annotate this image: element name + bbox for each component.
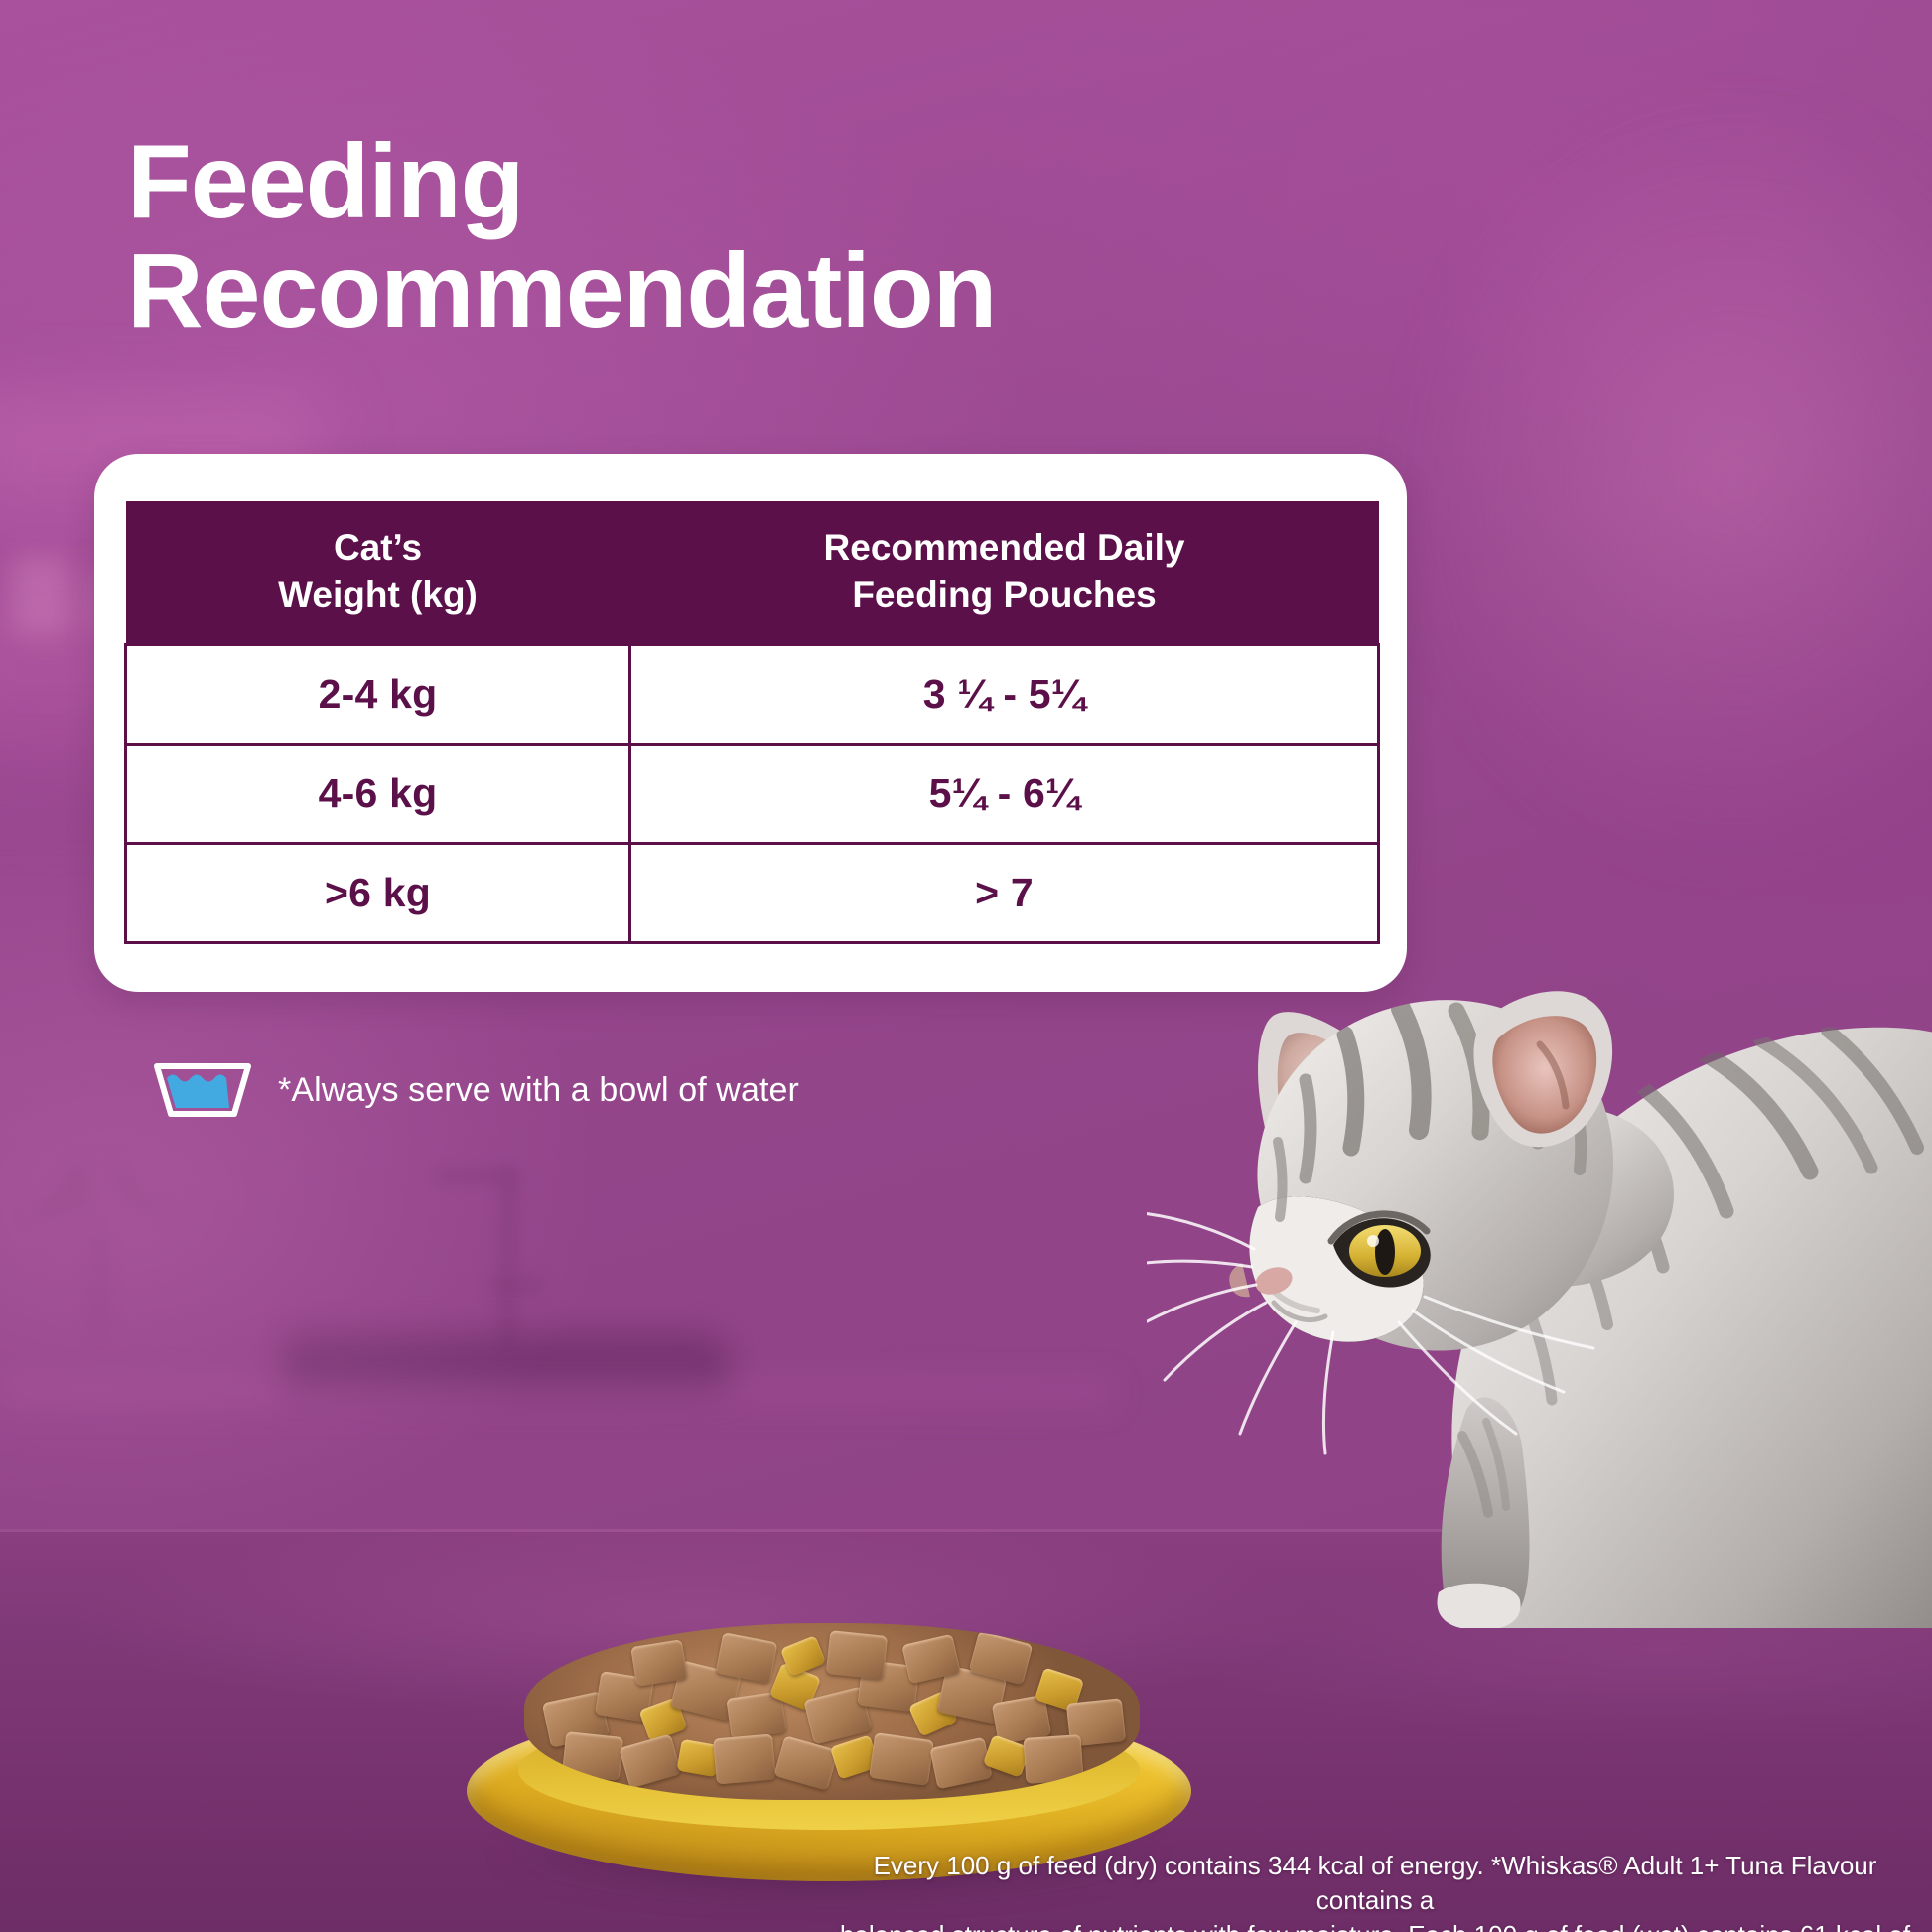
- wet-food-pile: [524, 1623, 1140, 1800]
- background-counter-edge: [0, 1382, 1112, 1408]
- page-title: Feeding Recommendation: [127, 127, 1269, 345]
- column-header-weight-line-2: Weight (kg): [136, 572, 621, 619]
- feeding-recommendation-panel: Feeding Recommendation Cat’s Weight (kg)…: [0, 0, 1932, 1932]
- background-window-glow: [1386, 79, 1932, 894]
- table-header-row: Cat’s Weight (kg) Recommended Daily Feed…: [126, 501, 1379, 645]
- table-row: 2-4 kg 3 ¼ - 5¼: [126, 645, 1379, 745]
- background-faucet-knob: [488, 1279, 544, 1293]
- background-jar-left: [10, 556, 71, 635]
- column-header-pouches-line-1: Recommended Daily: [824, 527, 1185, 568]
- cell-weight: >6 kg: [126, 844, 630, 943]
- water-note: *Always serve with a bowl of water: [151, 1060, 799, 1120]
- disclaimer-line-2: balanced structure of nutrients with few…: [834, 1918, 1916, 1932]
- cell-weight: 2-4 kg: [126, 645, 630, 745]
- column-header-pouches-line-2: Feeding Pouches: [640, 572, 1369, 619]
- column-header-weight: Cat’s Weight (kg): [126, 501, 630, 645]
- water-note-label: *Always serve with a bowl of water: [278, 1071, 799, 1110]
- nutrition-disclaimer: Every 100 g of feed (dry) contains 344 k…: [834, 1849, 1916, 1932]
- cell-pouches: 3 ¼ - 5¼: [630, 645, 1379, 745]
- page-title-line-1: Feeding: [127, 127, 1269, 236]
- background-faucet-post: [501, 1172, 515, 1350]
- column-header-pouches: Recommended Daily Feeding Pouches: [630, 501, 1379, 645]
- disclaimer-line-1: Every 100 g of feed (dry) contains 344 k…: [834, 1849, 1916, 1918]
- column-header-weight-line-1: Cat’s: [334, 527, 422, 568]
- cat-photo: [1147, 814, 1932, 1628]
- water-bowl-icon: [151, 1060, 254, 1120]
- background-plant: [20, 1152, 189, 1330]
- page-title-line-2: Recommendation: [127, 236, 1269, 345]
- cell-weight: 4-6 kg: [126, 745, 630, 844]
